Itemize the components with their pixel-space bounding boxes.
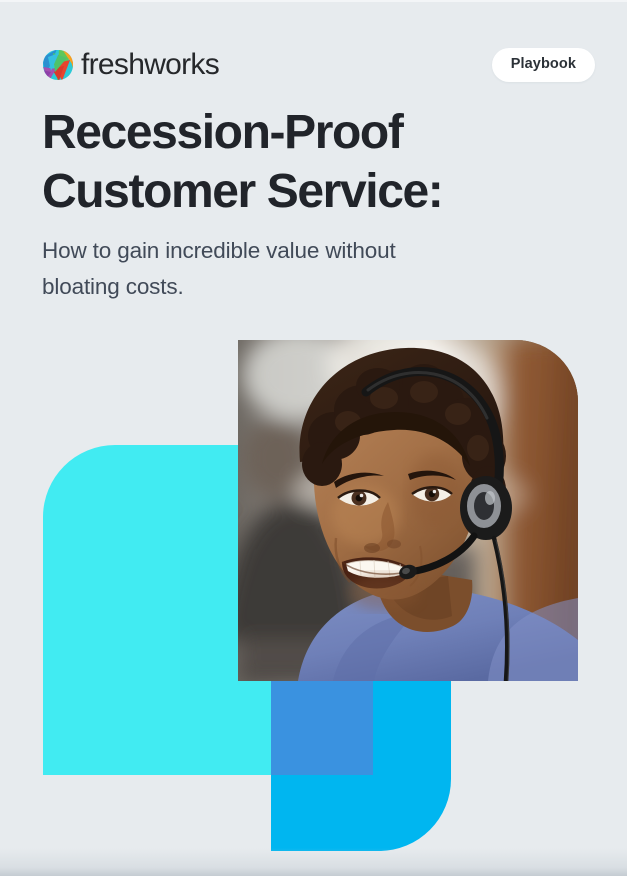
- panel-overlap-shape: [271, 681, 373, 775]
- page-subtitle: How to gain incredible value without blo…: [42, 233, 482, 306]
- agent-photo: [238, 340, 578, 681]
- page-title: Recession-Proof Customer Service:: [42, 104, 567, 221]
- playbook-badge: Playbook: [492, 48, 595, 82]
- freshworks-brand[interactable]: freshworks: [42, 49, 219, 81]
- cover-header: freshworks Playbook: [42, 42, 595, 88]
- page-top-highlight: [0, 0, 627, 2]
- playbook-cover-page: freshworks Playbook Recession-Proof Cust…: [0, 0, 627, 876]
- page-subtitle-line-1: How to gain incredible value without: [42, 233, 482, 269]
- page-title-line-1: Recession-Proof: [42, 104, 567, 163]
- freshworks-leaf-logo-icon: [42, 49, 74, 81]
- page-subtitle-line-2: bloating costs.: [42, 269, 482, 305]
- page-title-line-2: Customer Service:: [42, 163, 567, 222]
- brand-name-text: freshworks: [81, 50, 219, 80]
